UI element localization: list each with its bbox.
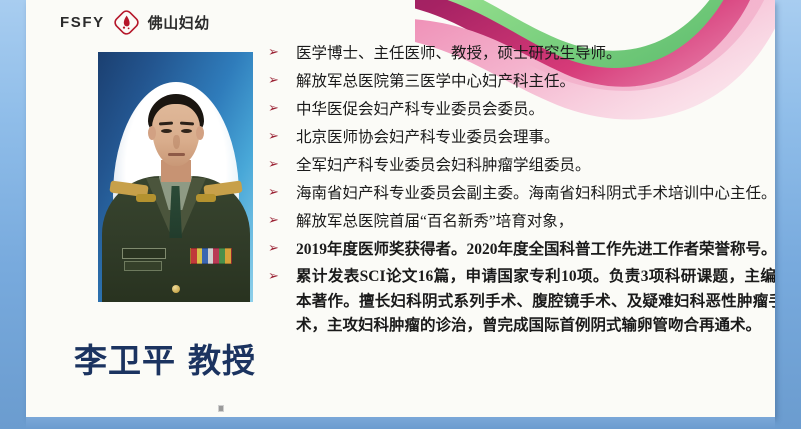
list-item-text: 累计发表SCI论文16篇，申请国家专利10项。负责3项科研课题，主编5本著作。擅…	[296, 265, 775, 339]
ear-right	[196, 126, 204, 140]
list-item: ➢ 海南省妇产科专业委员会副主委。海南省妇科阴式手术培训中心主任。	[264, 181, 775, 206]
list-item-text: 全军妇产科专业委员会妇科肿瘤学组委员。	[296, 153, 775, 178]
arrow-bullet-icon: ➢	[264, 181, 296, 205]
left-letterbox-band	[0, 0, 26, 429]
eye-left	[161, 129, 172, 133]
list-item-text: 医学博士、主任医师、教授，硕士研究生导师。	[296, 41, 775, 66]
right-letterbox-band	[775, 0, 801, 429]
list-item: ➢ 2019年度医师奖获得者。2020年度全国科普工作先进工作者荣誉称号。	[264, 237, 775, 262]
arrow-bullet-icon: ➢	[264, 41, 296, 65]
eye-right	[181, 129, 192, 133]
arrow-bullet-icon: ➢	[264, 265, 296, 289]
brand-logo: FSFY 佛山妇幼	[60, 10, 210, 35]
list-item-text: 北京医师协会妇产科专业委员会理事。	[296, 125, 775, 150]
biography-bullet-list: ➢ 医学博士、主任医师、教授，硕士研究生导师。 ➢ 解放军总医院第三医学中心妇产…	[264, 41, 775, 342]
list-item: ➢ 全军妇产科专业委员会妇科肿瘤学组委员。	[264, 153, 775, 178]
arrow-bullet-icon: ➢	[264, 69, 296, 93]
arrow-bullet-icon: ➢	[264, 125, 296, 149]
list-item-text: 2019年度医师奖获得者。2020年度全国科普工作先进工作者荣誉称号。	[296, 237, 775, 262]
arrow-bullet-icon: ➢	[264, 153, 296, 177]
ear-left	[148, 126, 156, 140]
arrow-bullet-icon: ➢	[264, 97, 296, 121]
list-item: ➢ 解放军总医院首届“百名新秀”培育对象，	[264, 209, 775, 234]
slideshow-viewport: FSFY 佛山妇幼	[0, 0, 801, 429]
chest-nametag	[124, 261, 162, 271]
arrow-bullet-icon: ➢	[264, 237, 296, 261]
list-item-text: 海南省妇产科专业委员会副主委。海南省妇科阴式手术培训中心主任。	[296, 181, 775, 206]
list-item: ➢ 解放军总医院第三医学中心妇产科主任。	[264, 69, 775, 94]
presentation-slide: FSFY 佛山妇幼	[26, 0, 775, 417]
logo-brand-name: 佛山妇幼	[148, 12, 210, 33]
list-item: ➢ 累计发表SCI论文16篇，申请国家专利10项。负责3项科研课题，主编5本著作…	[264, 265, 775, 339]
collar-insignia-right	[196, 194, 216, 202]
list-item-text: 中华医促会妇产科专业委员会委员。	[296, 97, 775, 122]
screen-artifact-marker	[218, 405, 224, 412]
portrait-photo	[98, 52, 253, 302]
list-item: ➢ 中华医促会妇产科专业委员会委员。	[264, 97, 775, 122]
list-item-text: 解放军总医院首届“百名新秀”培育对象，	[296, 209, 775, 234]
list-item: ➢ 医学博士、主任医师、教授，硕士研究生导师。	[264, 41, 775, 66]
uniform-button	[172, 285, 180, 293]
flame-diamond-logo-icon	[114, 10, 139, 35]
logo-abbreviation: FSFY	[60, 14, 105, 31]
slide-bottom-shadow	[26, 417, 775, 429]
collar-insignia-left	[136, 194, 156, 202]
speaker-name: 李卫平	[74, 342, 176, 379]
medal-ribbon-bar	[190, 248, 232, 264]
speaker-title: 教授	[188, 342, 256, 379]
arrow-bullet-icon: ➢	[264, 209, 296, 233]
list-item-text: 解放军总医院第三医学中心妇产科主任。	[296, 69, 775, 94]
chest-nameplate	[122, 248, 166, 259]
list-item: ➢ 北京医师协会妇产科专业委员会理事。	[264, 125, 775, 150]
speaker-name-caption: 李卫平教授	[74, 334, 256, 382]
mouth	[168, 153, 185, 156]
nose	[173, 135, 180, 149]
